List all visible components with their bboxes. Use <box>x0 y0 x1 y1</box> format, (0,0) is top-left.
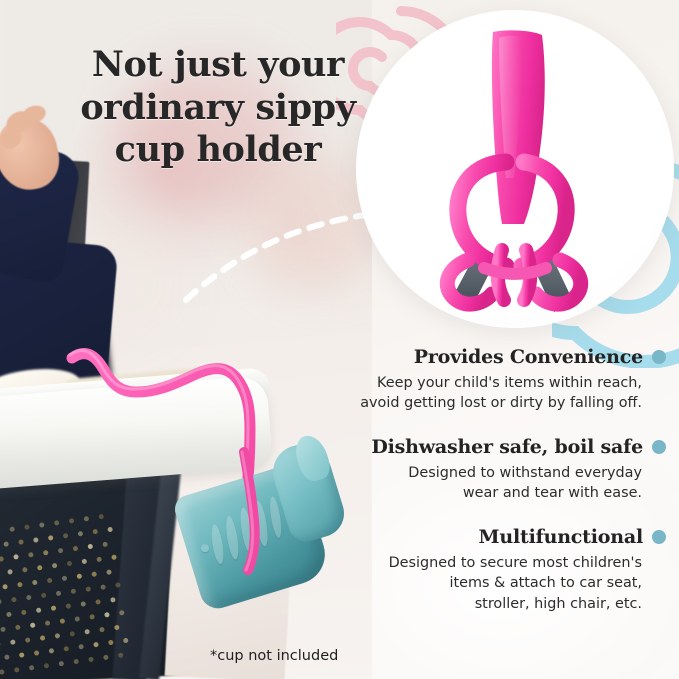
feature-item-multifunctional: Multifunctional Designed to secure most … <box>336 526 666 614</box>
feature-body-line: Designed to secure most children's <box>336 553 642 573</box>
feature-description: Keep your child's items within reach, av… <box>336 373 666 414</box>
headline-line-1: Not just your <box>62 44 374 87</box>
feature-heading: Provides Convenience <box>336 346 666 368</box>
feature-title: Dishwasher safe, boil safe <box>371 436 643 458</box>
feature-body-line: Designed to withstand everyday <box>336 463 642 483</box>
feature-description: Designed to withstand everyday wear and … <box>336 463 666 504</box>
feature-body-line: items & attach to car seat, <box>336 573 642 593</box>
disclaimer-text: *cup not included <box>210 648 338 664</box>
feature-title: Multifunctional <box>479 526 643 548</box>
feature-title: Provides Convenience <box>414 346 643 368</box>
bullet-dot-icon <box>652 350 666 364</box>
feature-heading: Dishwasher safe, boil safe <box>336 436 666 458</box>
feature-item-convenience: Provides Convenience Keep your child's i… <box>336 346 666 414</box>
feature-body-line: wear and tear with ease. <box>336 483 642 503</box>
feature-body-line: Keep your child's items within reach, <box>336 373 642 393</box>
feature-body-line: avoid getting lost or dirty by falling o… <box>336 393 642 413</box>
product-infographic: Not just your ordinary sippy cup holder … <box>0 0 679 679</box>
feature-description: Designed to secure most children's items… <box>336 553 666 614</box>
headline-line-2: ordinary sippy <box>62 87 374 130</box>
feature-heading: Multifunctional <box>336 526 666 548</box>
product-circle-inset <box>356 10 674 328</box>
pink-sippy-cup-holder-product <box>356 10 674 328</box>
bullet-dot-icon <box>652 440 666 454</box>
feature-item-dishwasher-safe: Dishwasher safe, boil safe Designed to w… <box>336 436 666 504</box>
feature-body-line: stroller, high chair, etc. <box>336 594 642 614</box>
bullet-dot-icon <box>652 530 666 544</box>
feature-list: Provides Convenience Keep your child's i… <box>336 346 666 636</box>
headline-line-3: cup holder <box>62 129 374 172</box>
page-headline: Not just your ordinary sippy cup holder <box>62 44 374 172</box>
